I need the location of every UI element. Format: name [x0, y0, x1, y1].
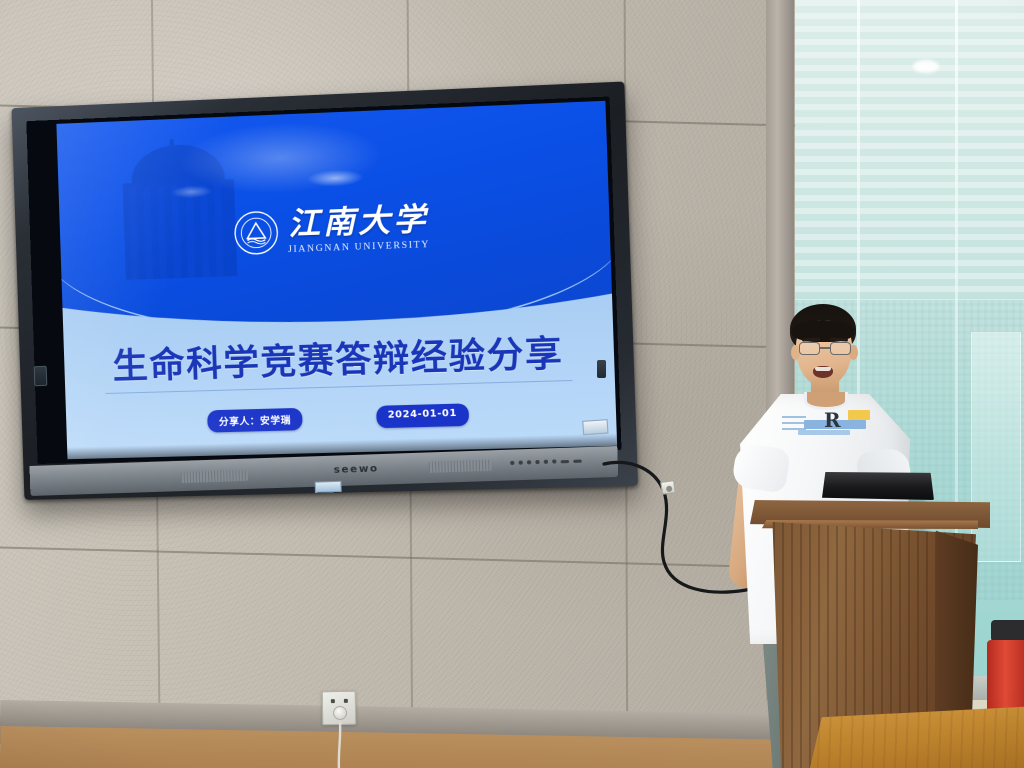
control-button[interactable]	[544, 460, 548, 464]
glasses-lens	[830, 342, 851, 355]
date-pill: 2024-01-01	[376, 403, 469, 428]
ceiling-light-reflection	[913, 60, 939, 73]
speaker-grille	[429, 460, 492, 473]
display-brand-label: seewo	[334, 463, 379, 476]
cable-wall-clip	[660, 480, 676, 495]
outlet-slot-left	[331, 699, 335, 703]
bezel-asset-sticker	[315, 481, 342, 493]
university-name-cn: 江南大学	[288, 204, 429, 241]
tshirt-graphic-yellow-bar	[848, 410, 870, 420]
control-button[interactable]	[527, 460, 531, 464]
photo-scene: 江南大学 JIANGNAN UNIVERSITY 生命科学竞赛答辩经验分享 分享…	[0, 0, 1024, 768]
title-slide: 江南大学 JIANGNAN UNIVERSITY 生命科学竞赛答辩经验分享 分享…	[56, 101, 617, 459]
bezel-asset-sticker	[582, 419, 608, 435]
display-screen-area: 江南大学 JIANGNAN UNIVERSITY 生命科学竞赛答辩经验分享 分享…	[26, 96, 621, 463]
display-right-side-button[interactable]	[597, 360, 606, 378]
tshirt-graphic-letter: R	[824, 408, 841, 432]
jiangnan-university-emblem-icon	[233, 210, 279, 256]
glass-louver-texture	[795, 0, 1024, 300]
outlet-cable	[330, 722, 354, 768]
control-button[interactable]	[535, 460, 539, 464]
wall-power-outlet[interactable]	[322, 691, 357, 726]
outlet-plug	[333, 706, 347, 720]
control-button[interactable]	[519, 461, 523, 465]
screen-glare	[177, 118, 384, 197]
laptop[interactable]	[822, 472, 934, 500]
glasses-bridge	[820, 347, 830, 349]
control-button[interactable]	[561, 459, 570, 462]
display-control-buttons[interactable]	[510, 459, 582, 465]
glasses-lens	[799, 342, 820, 355]
presenter-mouth	[813, 366, 833, 378]
presenter-glasses	[798, 342, 852, 355]
presentation-screen[interactable]: 江南大学 JIANGNAN UNIVERSITY 生命科学竞赛答辩经验分享 分享…	[56, 101, 617, 459]
outlet-slot-right	[344, 699, 348, 703]
interactive-display-panel[interactable]: 江南大学 JIANGNAN UNIVERSITY 生命科学竞赛答辩经验分享 分享…	[18, 108, 614, 500]
presenter-pill: 分享人：安学瑞	[207, 408, 302, 433]
control-button[interactable]	[573, 459, 582, 462]
control-button[interactable]	[552, 459, 556, 463]
speaker-grille	[181, 470, 248, 483]
control-button[interactable]	[510, 461, 514, 465]
display-left-side-button[interactable]	[34, 366, 48, 386]
tshirt-graphic: R	[782, 406, 872, 440]
fire-extinguisher-top	[991, 620, 1024, 642]
slide-meta-pills: 分享人：安学瑞 2024-01-01	[66, 399, 616, 436]
